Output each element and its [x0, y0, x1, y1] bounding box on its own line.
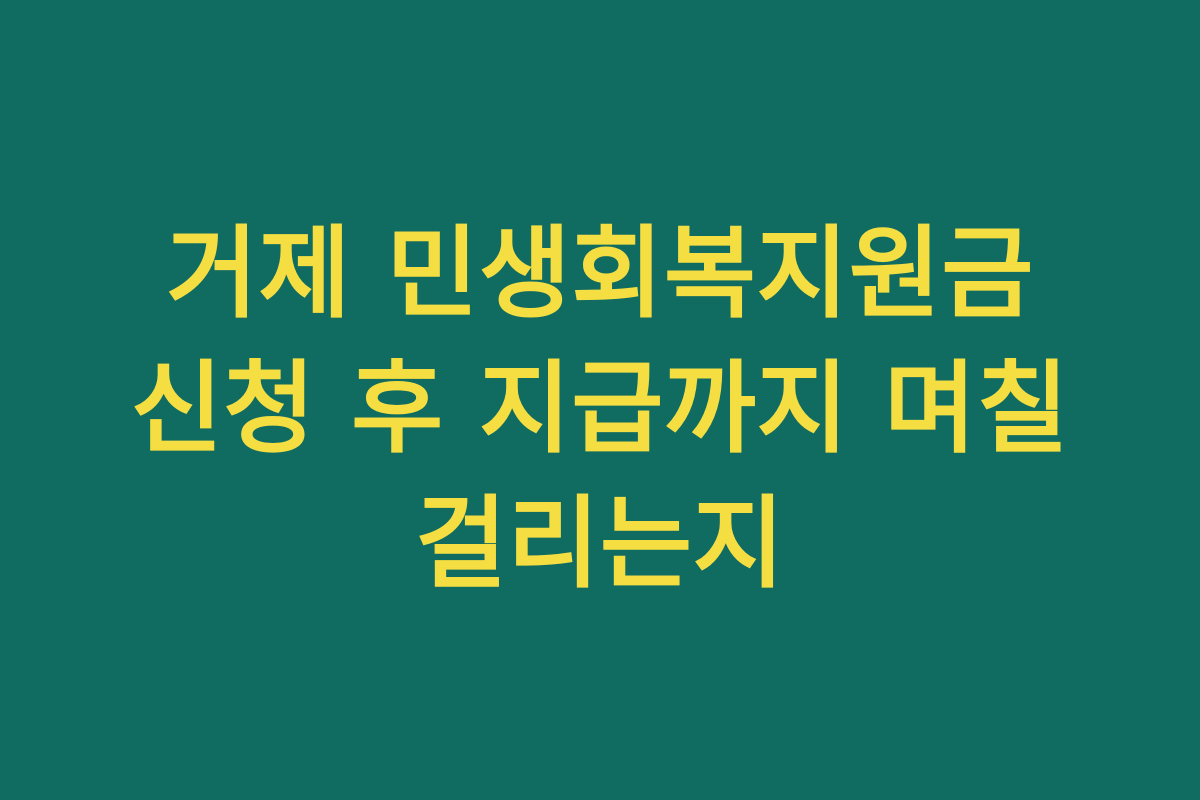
headline-block: 거제 민생회복지원금 신청 후 지급까지 며칠 걸리는지 — [0, 206, 1200, 611]
thumbnail-canvas: 거제 민생회복지원금 신청 후 지급까지 며칠 걸리는지 — [0, 0, 1200, 800]
headline-text: 거제 민생회복지원금 신청 후 지급까지 며칠 걸리는지 — [104, 206, 1096, 611]
